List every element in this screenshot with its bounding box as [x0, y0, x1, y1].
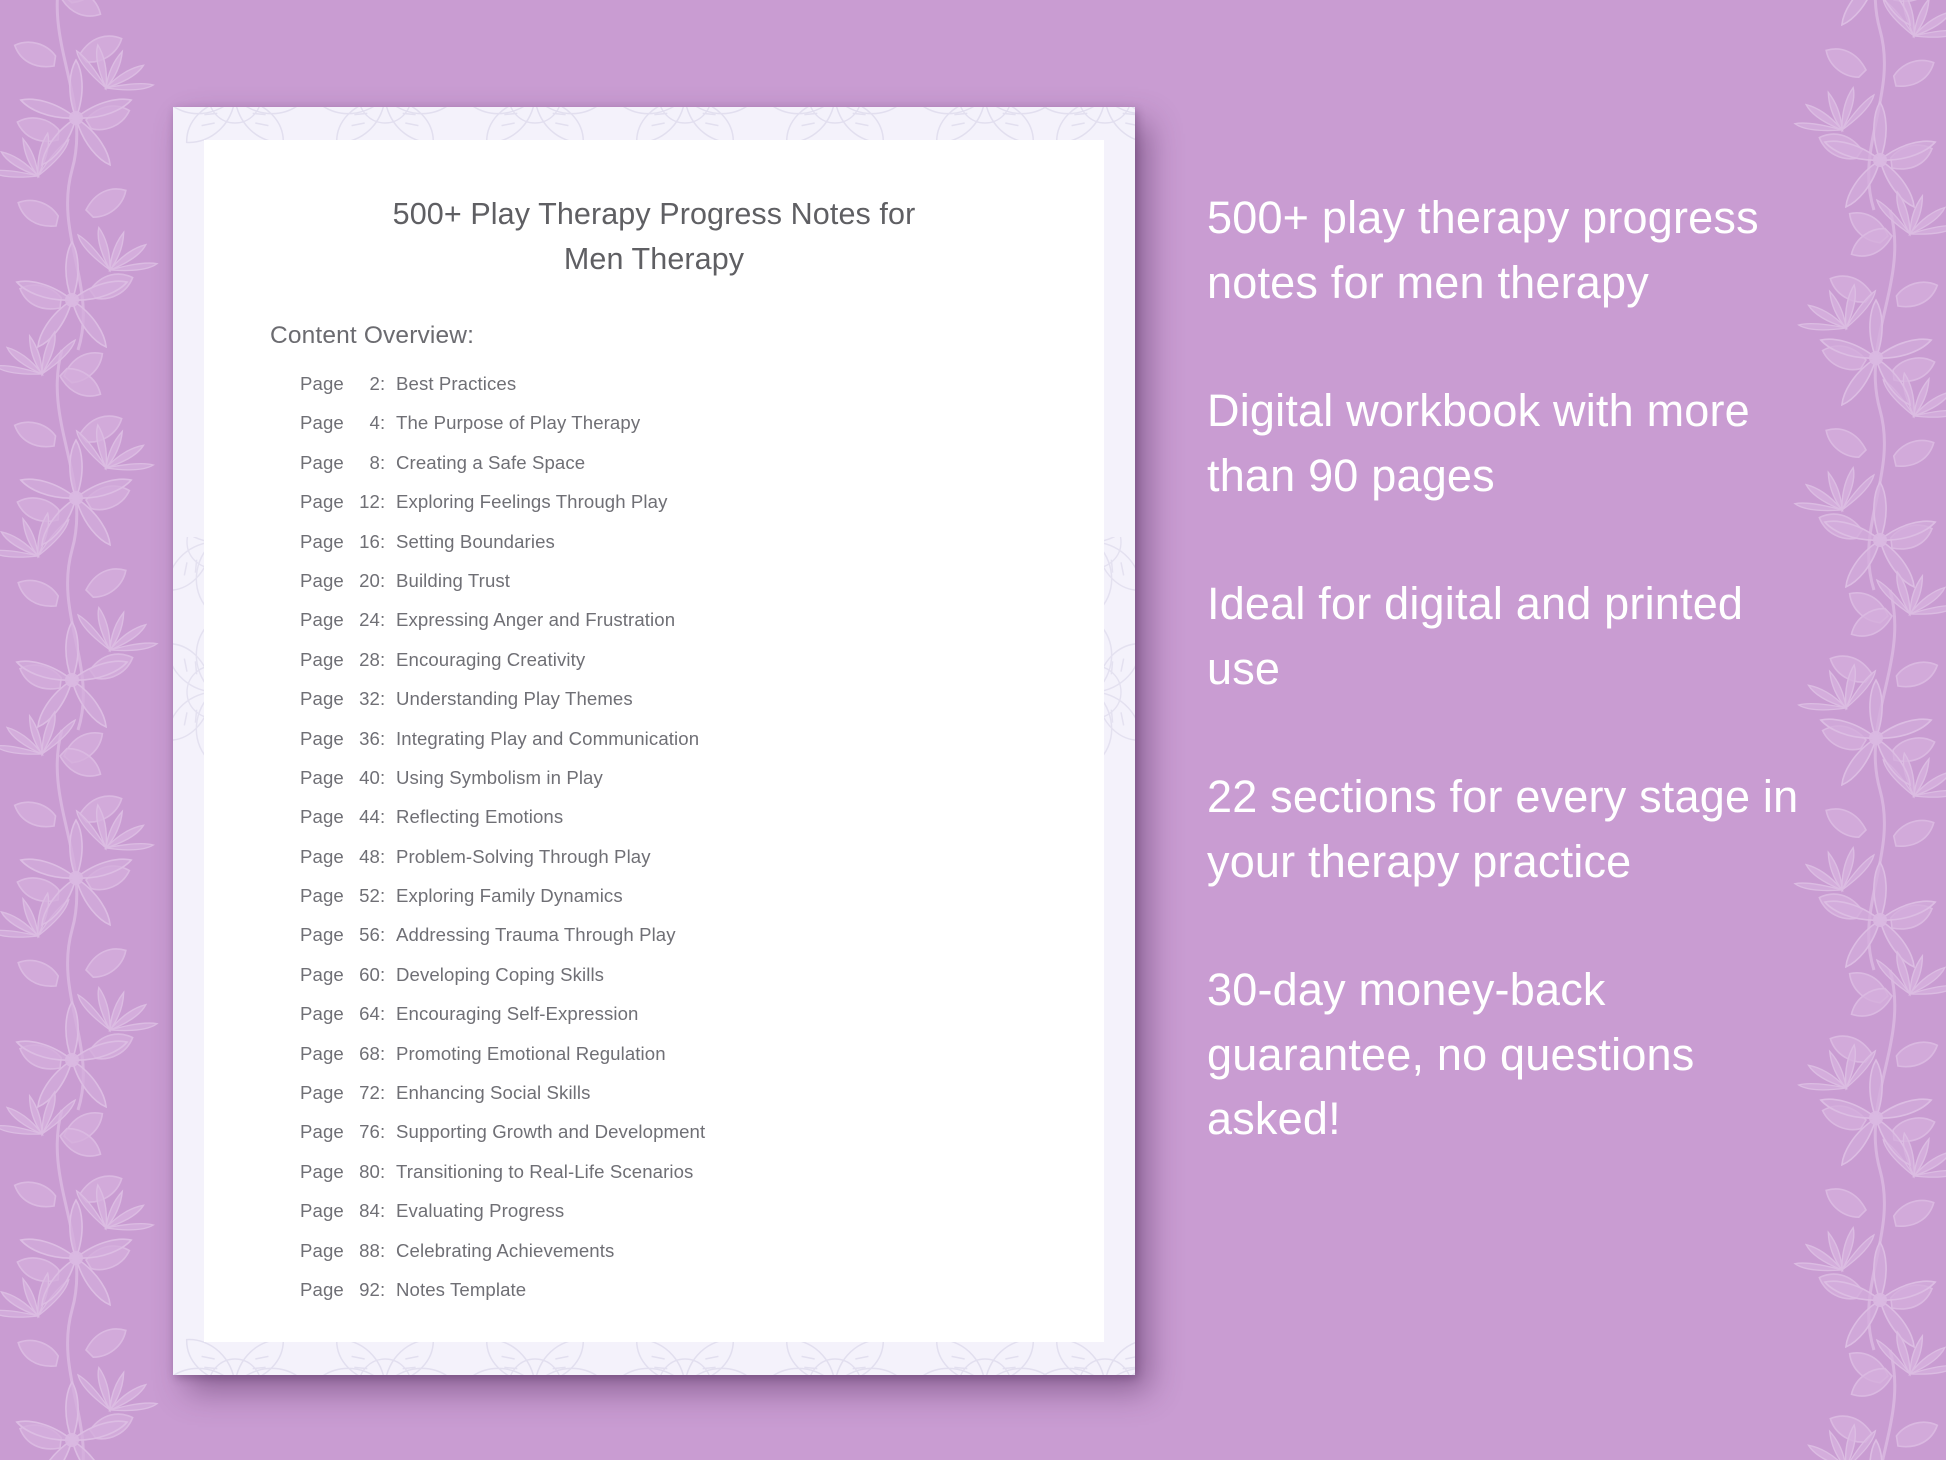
table-of-contents-row: Page48:Problem-Solving Through Play: [300, 846, 1060, 885]
toc-colon: :: [380, 924, 396, 946]
toc-page-number: 72: [349, 1082, 380, 1104]
toc-page-word: Page: [300, 452, 349, 474]
toc-colon: :: [380, 1043, 396, 1065]
floral-vine-ornament-left: [0, 0, 202, 1460]
table-of-contents-row: Page32:Understanding Play Themes: [300, 688, 1060, 727]
toc-page-number: 8: [349, 452, 380, 474]
table-of-contents-row: Page80:Transitioning to Real-Life Scenar…: [300, 1161, 1060, 1200]
toc-page-number: 56: [349, 924, 380, 946]
toc-page-word: Page: [300, 1161, 349, 1183]
toc-entry-title: Celebrating Achievements: [396, 1240, 614, 1262]
toc-entry-title: Promoting Emotional Regulation: [396, 1043, 666, 1065]
toc-page-word: Page: [300, 728, 349, 750]
toc-page-number: 4: [349, 412, 380, 434]
table-of-contents-row: Page56:Addressing Trauma Through Play: [300, 924, 1060, 963]
toc-entry-title: Best Practices: [396, 373, 516, 395]
document-inner-page: 500+ Play Therapy Progress Notes for Men…: [204, 140, 1104, 1342]
toc-colon: :: [380, 806, 396, 828]
toc-entry-title: Supporting Growth and Development: [396, 1121, 705, 1143]
toc-entry-title: Encouraging Self-Expression: [396, 1003, 639, 1025]
toc-page-number: 84: [349, 1200, 380, 1222]
toc-page-number: 48: [349, 846, 380, 868]
toc-colon: :: [380, 767, 396, 789]
toc-colon: :: [380, 609, 396, 631]
toc-page-number: 88: [349, 1240, 380, 1262]
toc-colon: :: [380, 1279, 396, 1301]
toc-entry-title: Using Symbolism in Play: [396, 767, 603, 789]
toc-page-number: 40: [349, 767, 380, 789]
toc-entry-title: Exploring Family Dynamics: [396, 885, 623, 907]
toc-entry-title: Expressing Anger and Frustration: [396, 609, 675, 631]
toc-page-number: 52: [349, 885, 380, 907]
table-of-contents-row: Page8:Creating a Safe Space: [300, 452, 1060, 491]
toc-entry-title: Integrating Play and Communication: [396, 728, 699, 750]
table-of-contents-row: Page4:The Purpose of Play Therapy: [300, 412, 1060, 451]
toc-entry-title: The Purpose of Play Therapy: [396, 412, 640, 434]
toc-colon: :: [380, 491, 396, 513]
toc-page-word: Page: [300, 570, 349, 592]
toc-page-word: Page: [300, 688, 349, 710]
toc-colon: :: [380, 1240, 396, 1262]
toc-page-number: 16: [349, 531, 380, 553]
table-of-contents-row: Page60:Developing Coping Skills: [300, 964, 1060, 1003]
toc-page-number: 92: [349, 1279, 380, 1301]
toc-page-number: 60: [349, 964, 380, 986]
toc-page-word: Page: [300, 491, 349, 513]
toc-colon: :: [380, 1082, 396, 1104]
toc-page-word: Page: [300, 964, 349, 986]
table-of-contents-row: Page88:Celebrating Achievements: [300, 1240, 1060, 1279]
table-of-contents-row: Page12:Exploring Feelings Through Play: [300, 491, 1060, 530]
table-of-contents-row: Page44:Reflecting Emotions: [300, 806, 1060, 845]
toc-entry-title: Understanding Play Themes: [396, 688, 633, 710]
toc-page-number: 20: [349, 570, 380, 592]
toc-colon: :: [380, 570, 396, 592]
toc-colon: :: [380, 688, 396, 710]
toc-page-word: Page: [300, 767, 349, 789]
toc-entry-title: Notes Template: [396, 1279, 526, 1301]
table-of-contents-row: Page72:Enhancing Social Skills: [300, 1082, 1060, 1121]
toc-page-number: 80: [349, 1161, 380, 1183]
document-preview-card[interactable]: 500+ Play Therapy Progress Notes for Men…: [173, 107, 1135, 1375]
table-of-contents-row: Page52:Exploring Family Dynamics: [300, 885, 1060, 924]
toc-entry-title: Enhancing Social Skills: [396, 1082, 591, 1104]
toc-page-number: 68: [349, 1043, 380, 1065]
toc-entry-title: Evaluating Progress: [396, 1200, 564, 1222]
table-of-contents-row: Page40:Using Symbolism in Play: [300, 767, 1060, 806]
table-of-contents-row: Page84:Evaluating Progress: [300, 1200, 1060, 1239]
marketing-bullet: 30-day money-back guarantee, no question…: [1207, 958, 1827, 1152]
toc-page-word: Page: [300, 1082, 349, 1104]
toc-entry-title: Encouraging Creativity: [396, 649, 585, 671]
document-title: 500+ Play Therapy Progress Notes for Men…: [264, 192, 1044, 282]
marketing-bullet: 500+ play therapy progress notes for men…: [1207, 186, 1827, 315]
toc-entry-title: Exploring Feelings Through Play: [396, 491, 667, 513]
toc-page-number: 24: [349, 609, 380, 631]
table-of-contents-row: Page20:Building Trust: [300, 570, 1060, 609]
toc-colon: :: [380, 649, 396, 671]
toc-page-number: 76: [349, 1121, 380, 1143]
content-overview-label: Content Overview:: [270, 322, 474, 350]
marketing-bullet-list: 500+ play therapy progress notes for men…: [1207, 186, 1827, 1152]
toc-colon: :: [380, 728, 396, 750]
toc-page-word: Page: [300, 1121, 349, 1143]
toc-entry-title: Addressing Trauma Through Play: [396, 924, 676, 946]
table-of-contents-row: Page36:Integrating Play and Communicatio…: [300, 728, 1060, 767]
toc-colon: :: [380, 452, 396, 474]
table-of-contents-row: Page28:Encouraging Creativity: [300, 649, 1060, 688]
table-of-contents-row: Page68:Promoting Emotional Regulation: [300, 1043, 1060, 1082]
marketing-bullet: 22 sections for every stage in your ther…: [1207, 765, 1827, 894]
toc-page-word: Page: [300, 1279, 349, 1301]
toc-entry-title: Setting Boundaries: [396, 531, 555, 553]
toc-page-word: Page: [300, 412, 349, 434]
toc-page-word: Page: [300, 846, 349, 868]
toc-page-number: 36: [349, 728, 380, 750]
toc-entry-title: Problem-Solving Through Play: [396, 846, 651, 868]
toc-entry-title: Creating a Safe Space: [396, 452, 585, 474]
table-of-contents-row: Page16:Setting Boundaries: [300, 531, 1060, 570]
table-of-contents-row: Page2:Best Practices: [300, 373, 1060, 412]
toc-colon: :: [380, 1200, 396, 1222]
marketing-bullet: Digital workbook with more than 90 pages: [1207, 379, 1827, 508]
table-of-contents-list: Page2:Best PracticesPage4:The Purpose of…: [300, 373, 1060, 1318]
toc-colon: :: [380, 885, 396, 907]
table-of-contents-row: Page76:Supporting Growth and Development: [300, 1121, 1060, 1160]
toc-page-word: Page: [300, 806, 349, 828]
toc-page-word: Page: [300, 1003, 349, 1025]
toc-colon: :: [380, 531, 396, 553]
toc-colon: :: [380, 412, 396, 434]
toc-page-word: Page: [300, 531, 349, 553]
marketing-bullet: Ideal for digital and printed use: [1207, 572, 1827, 701]
toc-page-word: Page: [300, 649, 349, 671]
toc-entry-title: Transitioning to Real-Life Scenarios: [396, 1161, 693, 1183]
toc-page-number: 64: [349, 1003, 380, 1025]
toc-colon: :: [380, 1161, 396, 1183]
toc-page-word: Page: [300, 1240, 349, 1262]
table-of-contents-row: Page24:Expressing Anger and Frustration: [300, 609, 1060, 648]
toc-page-number: 12: [349, 491, 380, 513]
toc-page-word: Page: [300, 1043, 349, 1065]
toc-colon: :: [380, 1121, 396, 1143]
toc-page-word: Page: [300, 1200, 349, 1222]
table-of-contents-row: Page92:Notes Template: [300, 1279, 1060, 1318]
toc-entry-title: Developing Coping Skills: [396, 964, 604, 986]
toc-page-word: Page: [300, 924, 349, 946]
toc-page-word: Page: [300, 885, 349, 907]
toc-colon: :: [380, 846, 396, 868]
toc-page-number: 32: [349, 688, 380, 710]
toc-colon: :: [380, 373, 396, 395]
toc-entry-title: Building Trust: [396, 570, 510, 592]
toc-page-number: 2: [349, 373, 380, 395]
toc-colon: :: [380, 1003, 396, 1025]
toc-page-number: 28: [349, 649, 380, 671]
toc-entry-title: Reflecting Emotions: [396, 806, 563, 828]
toc-page-word: Page: [300, 609, 349, 631]
toc-page-number: 44: [349, 806, 380, 828]
table-of-contents-row: Page64:Encouraging Self-Expression: [300, 1003, 1060, 1042]
toc-page-word: Page: [300, 373, 349, 395]
toc-colon: :: [380, 964, 396, 986]
